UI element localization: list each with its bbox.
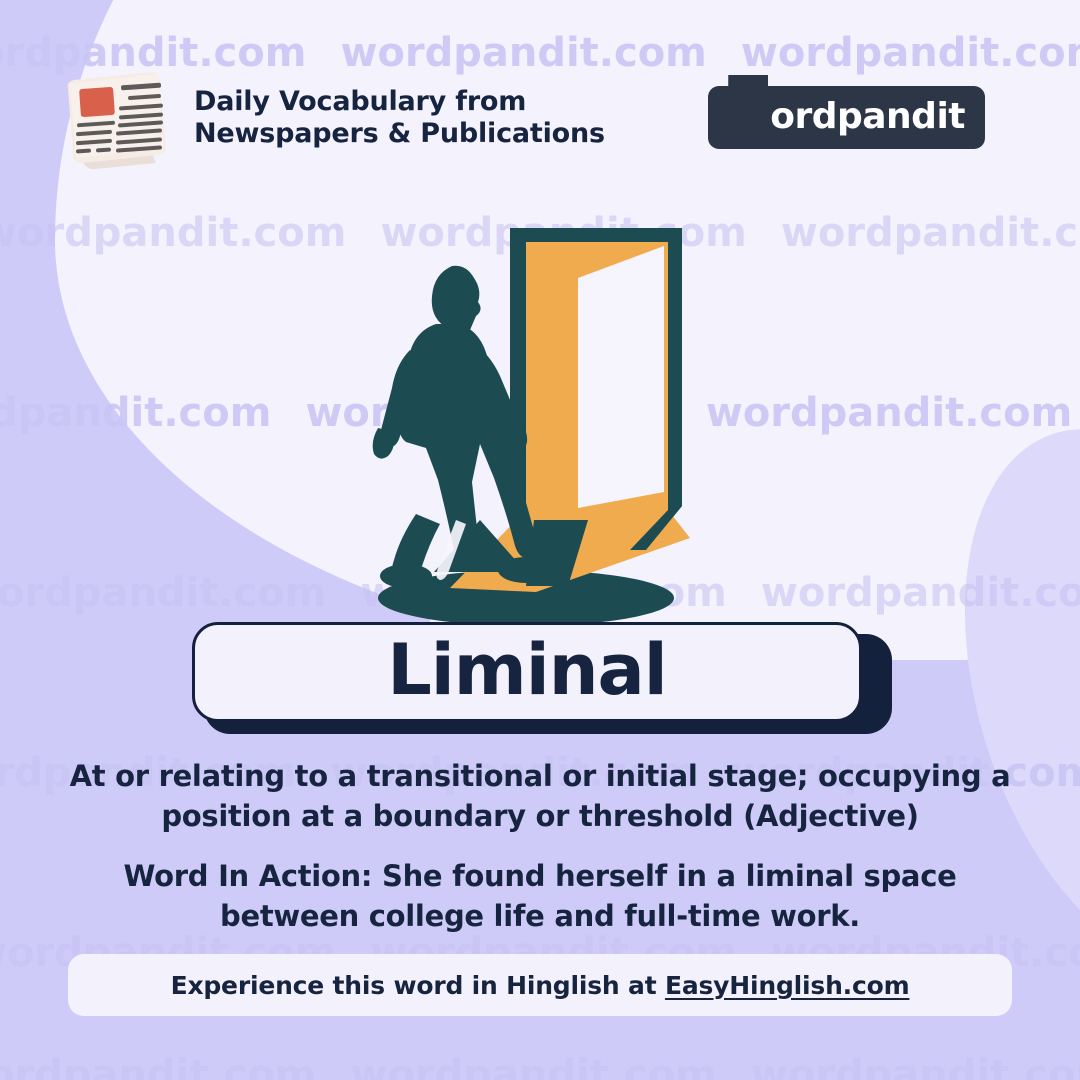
wordpandit-logo[interactable]: ordpandit <box>708 82 985 152</box>
header-left-group: Daily Vocabulary from Newspapers & Publi… <box>58 64 605 172</box>
bookmark-w-icon <box>728 75 768 149</box>
card-header: Daily Vocabulary from Newspapers & Publi… <box>0 62 1080 177</box>
page-title-line2: Newspapers & Publications <box>194 118 605 150</box>
footer-prefix: Experience this word in Hinglish at <box>171 971 665 1000</box>
logo-text: ordpandit <box>770 99 965 135</box>
page-title-line1: Daily Vocabulary from <box>194 86 605 118</box>
hinglish-footer-bar[interactable]: Experience this word in Hinglish at Easy… <box>68 954 1012 1016</box>
word-banner: Liminal <box>192 622 892 734</box>
word-in-action-example: Word In Action: She found herself in a l… <box>0 856 1080 936</box>
page-title: Daily Vocabulary from Newspapers & Publi… <box>194 86 605 150</box>
meaning-block: At or relating to a transitional or init… <box>0 756 1080 936</box>
word-banner-face: Liminal <box>192 622 862 722</box>
newspaper-icon <box>58 64 176 172</box>
vocabulary-word: Liminal <box>387 635 667 709</box>
logo-box: ordpandit <box>708 86 985 149</box>
footer-text: Experience this word in Hinglish at Easy… <box>171 971 910 1000</box>
person-walking-through-doorway-illustration <box>330 220 750 630</box>
vocabulary-card: wordpandit.comwordpandit.comwordpandit.c… <box>0 0 1080 1080</box>
word-definition: At or relating to a transitional or init… <box>0 756 1080 836</box>
easyhinglish-link[interactable]: EasyHinglish.com <box>665 971 909 1000</box>
